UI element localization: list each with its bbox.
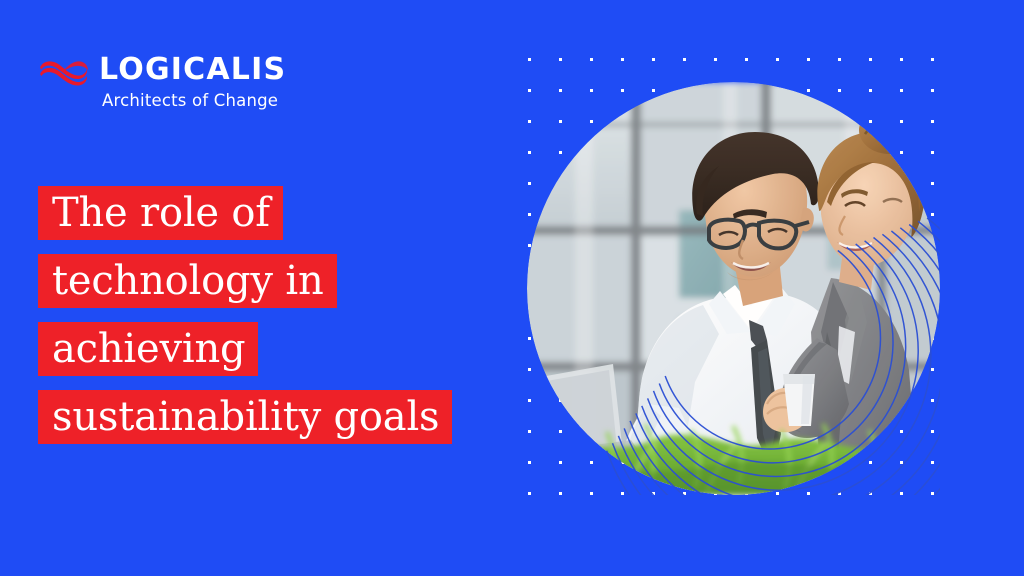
headline-line-1: The role of [38, 186, 283, 240]
logo-wordmark: LOGICALIS [99, 55, 286, 85]
headline: The role of technology in achieving sust… [38, 186, 452, 444]
brand-logo: LOGICALIS Architects of Change [38, 55, 286, 110]
logo-tagline: Architects of Change [102, 92, 286, 110]
hero-photo-illustration [527, 82, 940, 495]
headline-line-3: achieving [38, 322, 258, 376]
logo-text-group: LOGICALIS Architects of Change [99, 55, 286, 110]
logicalis-infinity-mark [38, 57, 90, 91]
presentation-slide: LOGICALIS Architects of Change The role … [0, 0, 1024, 576]
headline-line-4: sustainability goals [38, 390, 452, 444]
headline-line-2: technology in [38, 254, 337, 308]
hero-photo [527, 82, 940, 495]
